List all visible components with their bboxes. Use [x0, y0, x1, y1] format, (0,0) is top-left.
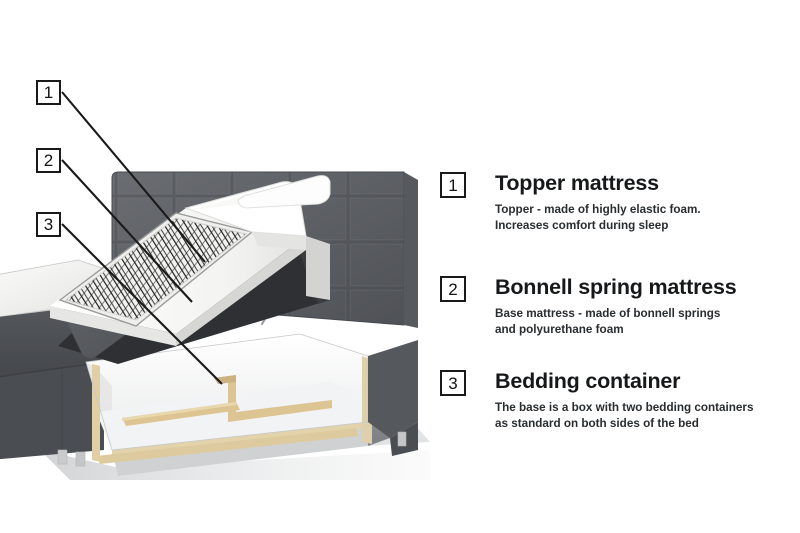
legend-badge-2[interactable]: 2 [440, 276, 466, 302]
infographic-page: 1 2 3 1 Topper mattress Topper - made of… [0, 0, 800, 533]
callout-badge-1[interactable]: 1 [36, 80, 61, 105]
legend-description-line: Base mattress - made of bonnell springs [495, 306, 790, 322]
legend-title: Topper mattress [495, 172, 790, 195]
legend-body: Bedding container The base is a box with… [495, 370, 790, 432]
legend-description: The base is a box with two bedding conta… [495, 400, 790, 432]
legend-item-bonnell-spring-mattress: 2 Bonnell spring mattress Base mattress … [440, 276, 790, 338]
legend-badge-3[interactable]: 3 [440, 370, 466, 396]
callout-badge-3[interactable]: 3 [36, 212, 61, 237]
callout-badge-2[interactable]: 2 [36, 148, 61, 173]
legend-badge-1[interactable]: 1 [440, 172, 466, 198]
legend-description-line: as standard on both sides of the bed [495, 416, 790, 432]
bed-illustration [0, 150, 430, 480]
legend-item-bedding-container: 3 Bedding container The base is a box wi… [440, 370, 790, 432]
legend-description-line: and polyurethane foam [495, 322, 790, 338]
legend-title: Bedding container [495, 370, 790, 393]
legend-description-line: The base is a box with two bedding conta… [495, 400, 790, 416]
legend-description-line: Topper - made of highly elastic foam. [495, 202, 790, 218]
legend-body: Topper mattress Topper - made of highly … [495, 172, 790, 234]
legend-description: Base mattress - made of bonnell springs … [495, 306, 790, 338]
legend-description-line: Increases comfort during sleep [495, 218, 790, 234]
legend-title: Bonnell spring mattress [495, 276, 790, 299]
legend-item-topper-mattress: 1 Topper mattress Topper - made of highl… [440, 172, 790, 234]
legend-description: Topper - made of highly elastic foam. In… [495, 202, 790, 234]
legend-body: Bonnell spring mattress Base mattress - … [495, 276, 790, 338]
